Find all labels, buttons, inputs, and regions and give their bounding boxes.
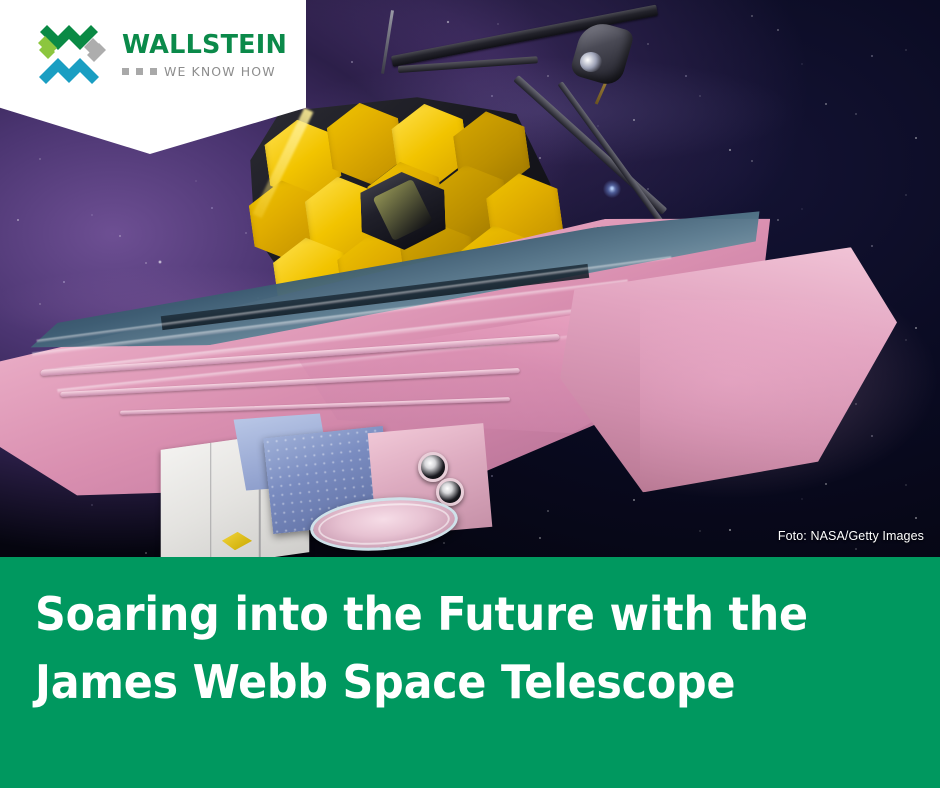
support-strut-2 [558, 81, 675, 238]
page-title: Soaring into the Future with the James W… [35, 581, 853, 716]
wallstein-diamond-chevron-logo-icon [36, 22, 108, 88]
headline-banner: Soaring into the Future with the James W… [0, 557, 940, 788]
tagline-dot [136, 68, 143, 75]
brand-text-block: WALLSTEIN WE KNOW HOW [122, 31, 287, 80]
photo-credit: Foto: NASA/Getty Images [778, 529, 924, 543]
tagline-dot [122, 68, 129, 75]
mirror-glint [580, 52, 602, 72]
jwst-article-poster: Foto: NASA/Getty Images WA [0, 0, 940, 788]
brand-name: WALLSTEIN [122, 33, 287, 59]
headline-line-1: Soaring into the Future with the [35, 581, 853, 649]
logo-lockup: WALLSTEIN WE KNOW HOW [0, 0, 306, 110]
solar-panel-divider [210, 443, 211, 557]
headline-line-2: James Webb Space Telescope [35, 649, 853, 717]
brand-tagline: WE KNOW HOW [164, 64, 276, 79]
instrument-aperture-icon [418, 452, 448, 482]
brand-tagline-row: WE KNOW HOW [122, 64, 287, 79]
tagline-dots-icon [122, 68, 157, 75]
tagline-dot [150, 68, 157, 75]
